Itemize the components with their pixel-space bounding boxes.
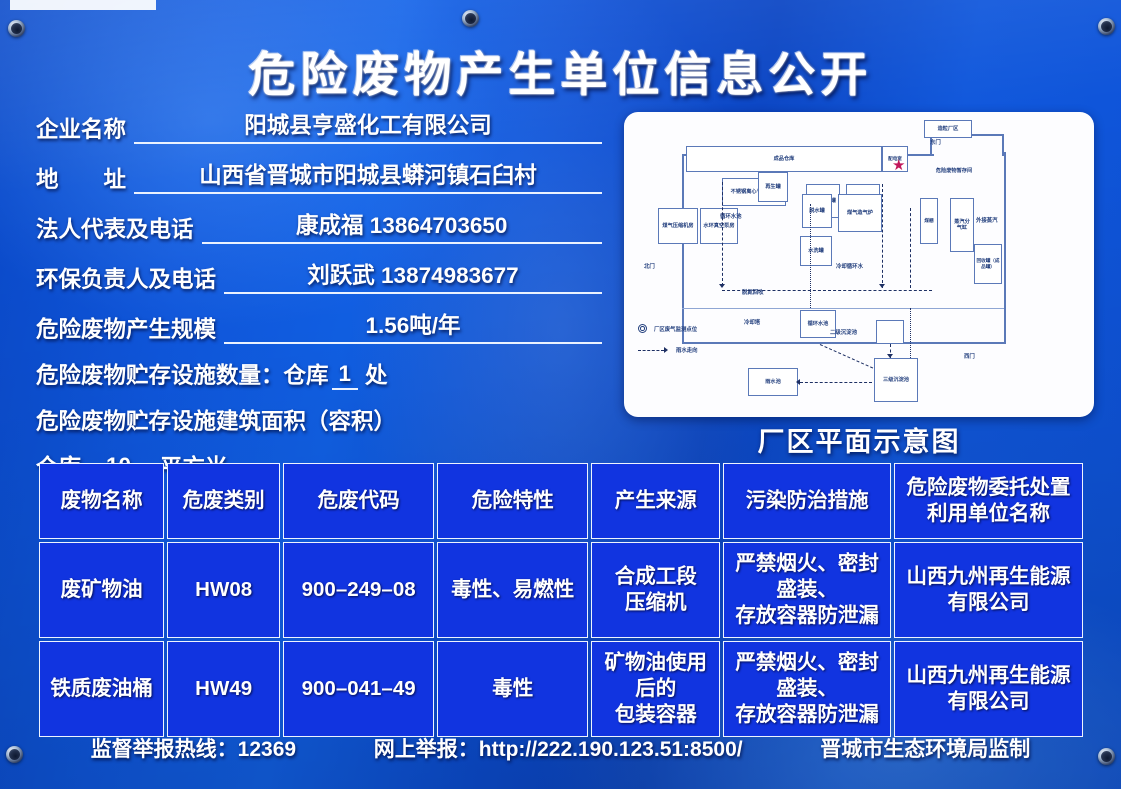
env-label: 环保负责人及电话 (36, 262, 216, 294)
footer: 监督举报热线：12369 网上举报：http://222.190.123.51:… (0, 733, 1121, 763)
address-label: 地 址 (36, 162, 126, 194)
info-row-company: 企业名称 阳城县亨盛化工有限公司 (36, 108, 602, 144)
cell-source-line1: 合成工段 (615, 565, 697, 588)
th-unit-line1: 危险废物委托处置 (907, 476, 1071, 499)
scale-value: 1.56吨/年 (224, 308, 602, 344)
legend-text-monitor: 厂区废气监测点位 (654, 325, 697, 333)
th-hazard: 危险特性 (437, 463, 588, 539)
th-control: 污染防治措施 (723, 463, 891, 539)
th-category: 危废类别 (167, 463, 280, 539)
cell-category: HW08 (167, 542, 280, 638)
cell-name: 铁质废油桶 (39, 641, 164, 737)
address-value: 山西省晋城市阳城县蟒河镇石臼村 (134, 158, 602, 194)
scale-label: 危险废物产生规模 (36, 312, 216, 344)
diagram-note: 冷却循环水 (836, 262, 863, 270)
diagram-gate-north: 北门 (644, 262, 655, 270)
diagram-box: 造粒厂区 (924, 120, 972, 138)
cell-unit-line2: 有限公司 (948, 591, 1030, 614)
info-row-scale: 危险废物产生规模 1.56吨/年 (36, 308, 602, 344)
diagram-gate-west: 西门 (964, 352, 975, 360)
legend-text-rainwater: 雨水走向 (676, 346, 698, 354)
info-row-facility-count: 危险废物贮存设施数量：仓库 1 处 (36, 358, 602, 390)
footer-issuer: 晋城市生态环境局监制 (820, 738, 1030, 761)
diagram-box: 成品仓库 (686, 146, 882, 172)
diagram-box: 再生罐 (758, 172, 788, 202)
diagram-box: 煤气造气炉 (838, 194, 882, 232)
mounting-bolt-icon (8, 20, 25, 37)
table-row: 废矿物油 HW08 900–249–08 毒性、易燃性 合成工段 压缩机 严禁烟… (39, 542, 1083, 638)
table-row: 铁质废油桶 HW49 900–041–49 毒性 矿物油使用后的 包装容器 严禁… (39, 641, 1083, 737)
cell-hazard: 毒性 (437, 641, 588, 737)
th-code: 危废代码 (283, 463, 434, 539)
facility-count-unit: 处 (365, 358, 388, 390)
th-unit-line2: 利用单位名称 (927, 502, 1050, 525)
cell-unit-line1: 山西九州再生能源 (907, 565, 1071, 588)
cell-source: 合成工段 压缩机 (591, 542, 720, 638)
cell-name: 废矿物油 (39, 542, 164, 638)
th-source: 产生来源 (591, 463, 720, 539)
diagram-box: 回收罐（成品罐） (974, 244, 1002, 284)
mounting-bolt-icon (1098, 18, 1115, 35)
information-board: 危险废物产生单位信息公开 企业名称 阳城县亨盛化工有限公司 地 址 山西省晋城市… (0, 0, 1121, 789)
info-row-address: 地 址 山西省晋城市阳城县蟒河镇石臼村 (36, 158, 602, 194)
footer-online-report: 网上举报：http://222.190.123.51:8500/ (374, 738, 743, 761)
facility-count-label: 危险废物贮存设施数量：仓库 (36, 358, 329, 390)
cell-source-line2: 压缩机 (625, 591, 687, 614)
diagram-box: 脱水罐 (802, 194, 832, 228)
th-name: 废物名称 (39, 463, 164, 539)
diagram-box: 水洗罐 (800, 236, 832, 266)
cell-source-line2: 包装容器 (615, 703, 697, 726)
cell-code: 900–249–08 (283, 542, 434, 638)
waste-table: 废物名称 危废类别 危废代码 危险特性 产生来源 污染防治措施 危险废物委托处置… (36, 460, 1086, 740)
table-header-row: 废物名称 危废类别 危废代码 危险特性 产生来源 污染防治措施 危险废物委托处置… (39, 463, 1083, 539)
diagram-gate-east: 东门 (930, 138, 941, 146)
cell-control-line1: 严禁烟火、密封盛装、 (735, 552, 879, 601)
info-row-legal: 法人代表及电话 康成福 13864703650 (36, 208, 602, 244)
star-label: 危险废物暂存间 (924, 158, 984, 184)
diagram-label-cooling-tower: 冷却塔 (744, 318, 760, 326)
th-unit: 危险废物委托处置 利用单位名称 (894, 463, 1083, 539)
diagram-note: 外接蒸汽 (976, 216, 998, 224)
info-section: 企业名称 阳城县亨盛化工有限公司 地 址 山西省晋城市阳城县蟒河镇石臼村 法人代… (36, 108, 602, 496)
company-label: 企业名称 (36, 112, 126, 144)
cell-source: 矿物油使用后的 包装容器 (591, 641, 720, 737)
cell-unit: 山西九州再生能源 有限公司 (894, 641, 1083, 737)
cell-source-line1: 矿物油使用后的 (604, 651, 707, 700)
cell-category: HW49 (167, 641, 280, 737)
cell-control: 严禁烟火、密封盛装、 存放容器防泄漏 (723, 641, 891, 737)
page-title: 危险废物产生单位信息公开 (0, 36, 1121, 105)
info-row-area-label: 危险废物贮存设施建筑面积（容积） (36, 404, 602, 436)
env-value: 刘跃武 13874983677 (224, 258, 602, 294)
diagram-caption: 厂区平面示意图 (624, 420, 1094, 459)
cell-control-line2: 存放容器防泄漏 (735, 703, 879, 726)
area-label: 危险废物贮存设施建筑面积（容积） (36, 404, 396, 436)
company-value: 阳城县亨盛化工有限公司 (134, 108, 602, 144)
diagram-box: 煤棚 (920, 198, 938, 244)
cell-unit-line2: 有限公司 (948, 690, 1030, 713)
monitor-point-icon (638, 324, 647, 333)
info-row-env: 环保负责人及电话 刘跃武 13874983677 (36, 258, 602, 294)
footer-hotline: 监督举报热线：12369 (91, 738, 296, 761)
mounting-bolt-icon (462, 10, 479, 27)
legal-label: 法人代表及电话 (36, 212, 194, 244)
cell-control-line1: 严禁烟火、密封盛装、 (735, 651, 879, 700)
site-plan-diagram: 成品仓库 配电室 造粒厂区 东门 北门 西门 ★ 危险废物暂存间 不锈钢离心干燥… (624, 112, 1094, 417)
cell-control-line2: 存放容器防泄漏 (735, 604, 879, 627)
facility-count-value: 1 (332, 361, 359, 390)
cell-code: 900–041–49 (283, 641, 434, 737)
cell-control: 严禁烟火、密封盛装、 存放容器防泄漏 (723, 542, 891, 638)
hazardous-waste-star-icon: ★ (892, 158, 905, 173)
diagram-box: 雨水池 (748, 368, 798, 396)
diagram-label-secondary-pond: 二级沉淀池 (830, 328, 857, 336)
cell-unit: 山西九州再生能源 有限公司 (894, 542, 1083, 638)
diagram-note: 循环水池 (720, 212, 742, 220)
cell-unit-line1: 山西九州再生能源 (907, 664, 1071, 687)
diagram-box: 煤气压缩机房 (658, 208, 698, 244)
diagram-box: 三级沉淀池 (874, 358, 918, 402)
cell-hazard: 毒性、易燃性 (437, 542, 588, 638)
board-top-strip (10, 0, 156, 10)
diagram-box: 蒸汽分气缸 (950, 198, 974, 252)
legal-value: 康成福 13864703650 (202, 208, 602, 244)
